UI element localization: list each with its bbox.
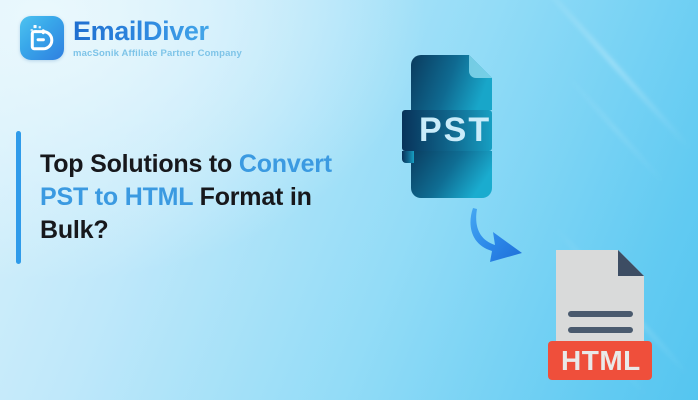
brand-tagline: macSonik Affiliate Partner Company <box>73 49 242 59</box>
brand-logo[interactable]: EmailDiver macSonik Affiliate Partner Co… <box>20 16 242 60</box>
brand-name: EmailDiver <box>73 18 242 45</box>
headline-segment-highlight: Convert <box>239 150 332 178</box>
headline-segment-highlight: PST to HTML <box>40 183 193 211</box>
svg-text:PST: PST <box>419 111 491 149</box>
pst-file-icon: PST <box>399 55 504 205</box>
page-title: Top Solutions to Convert PST to HTML For… <box>40 148 350 247</box>
brand-text: EmailDiver macSonik Affiliate Partner Co… <box>73 18 242 59</box>
light-streak-decoration <box>564 73 666 186</box>
light-streak-decoration <box>535 0 691 150</box>
promo-banner: EmailDiver macSonik Affiliate Partner Co… <box>0 0 698 400</box>
headline-segment-plain: Top Solutions to <box>40 150 239 178</box>
curved-arrow-icon <box>470 206 532 269</box>
emaildiver-logo-mark-icon <box>20 16 64 60</box>
svg-text:HTML: HTML <box>561 345 641 376</box>
accent-bar-decoration <box>16 131 21 264</box>
html-file-icon: HTML <box>548 248 658 385</box>
headline-block: Top Solutions to Convert PST to HTML For… <box>16 131 350 264</box>
